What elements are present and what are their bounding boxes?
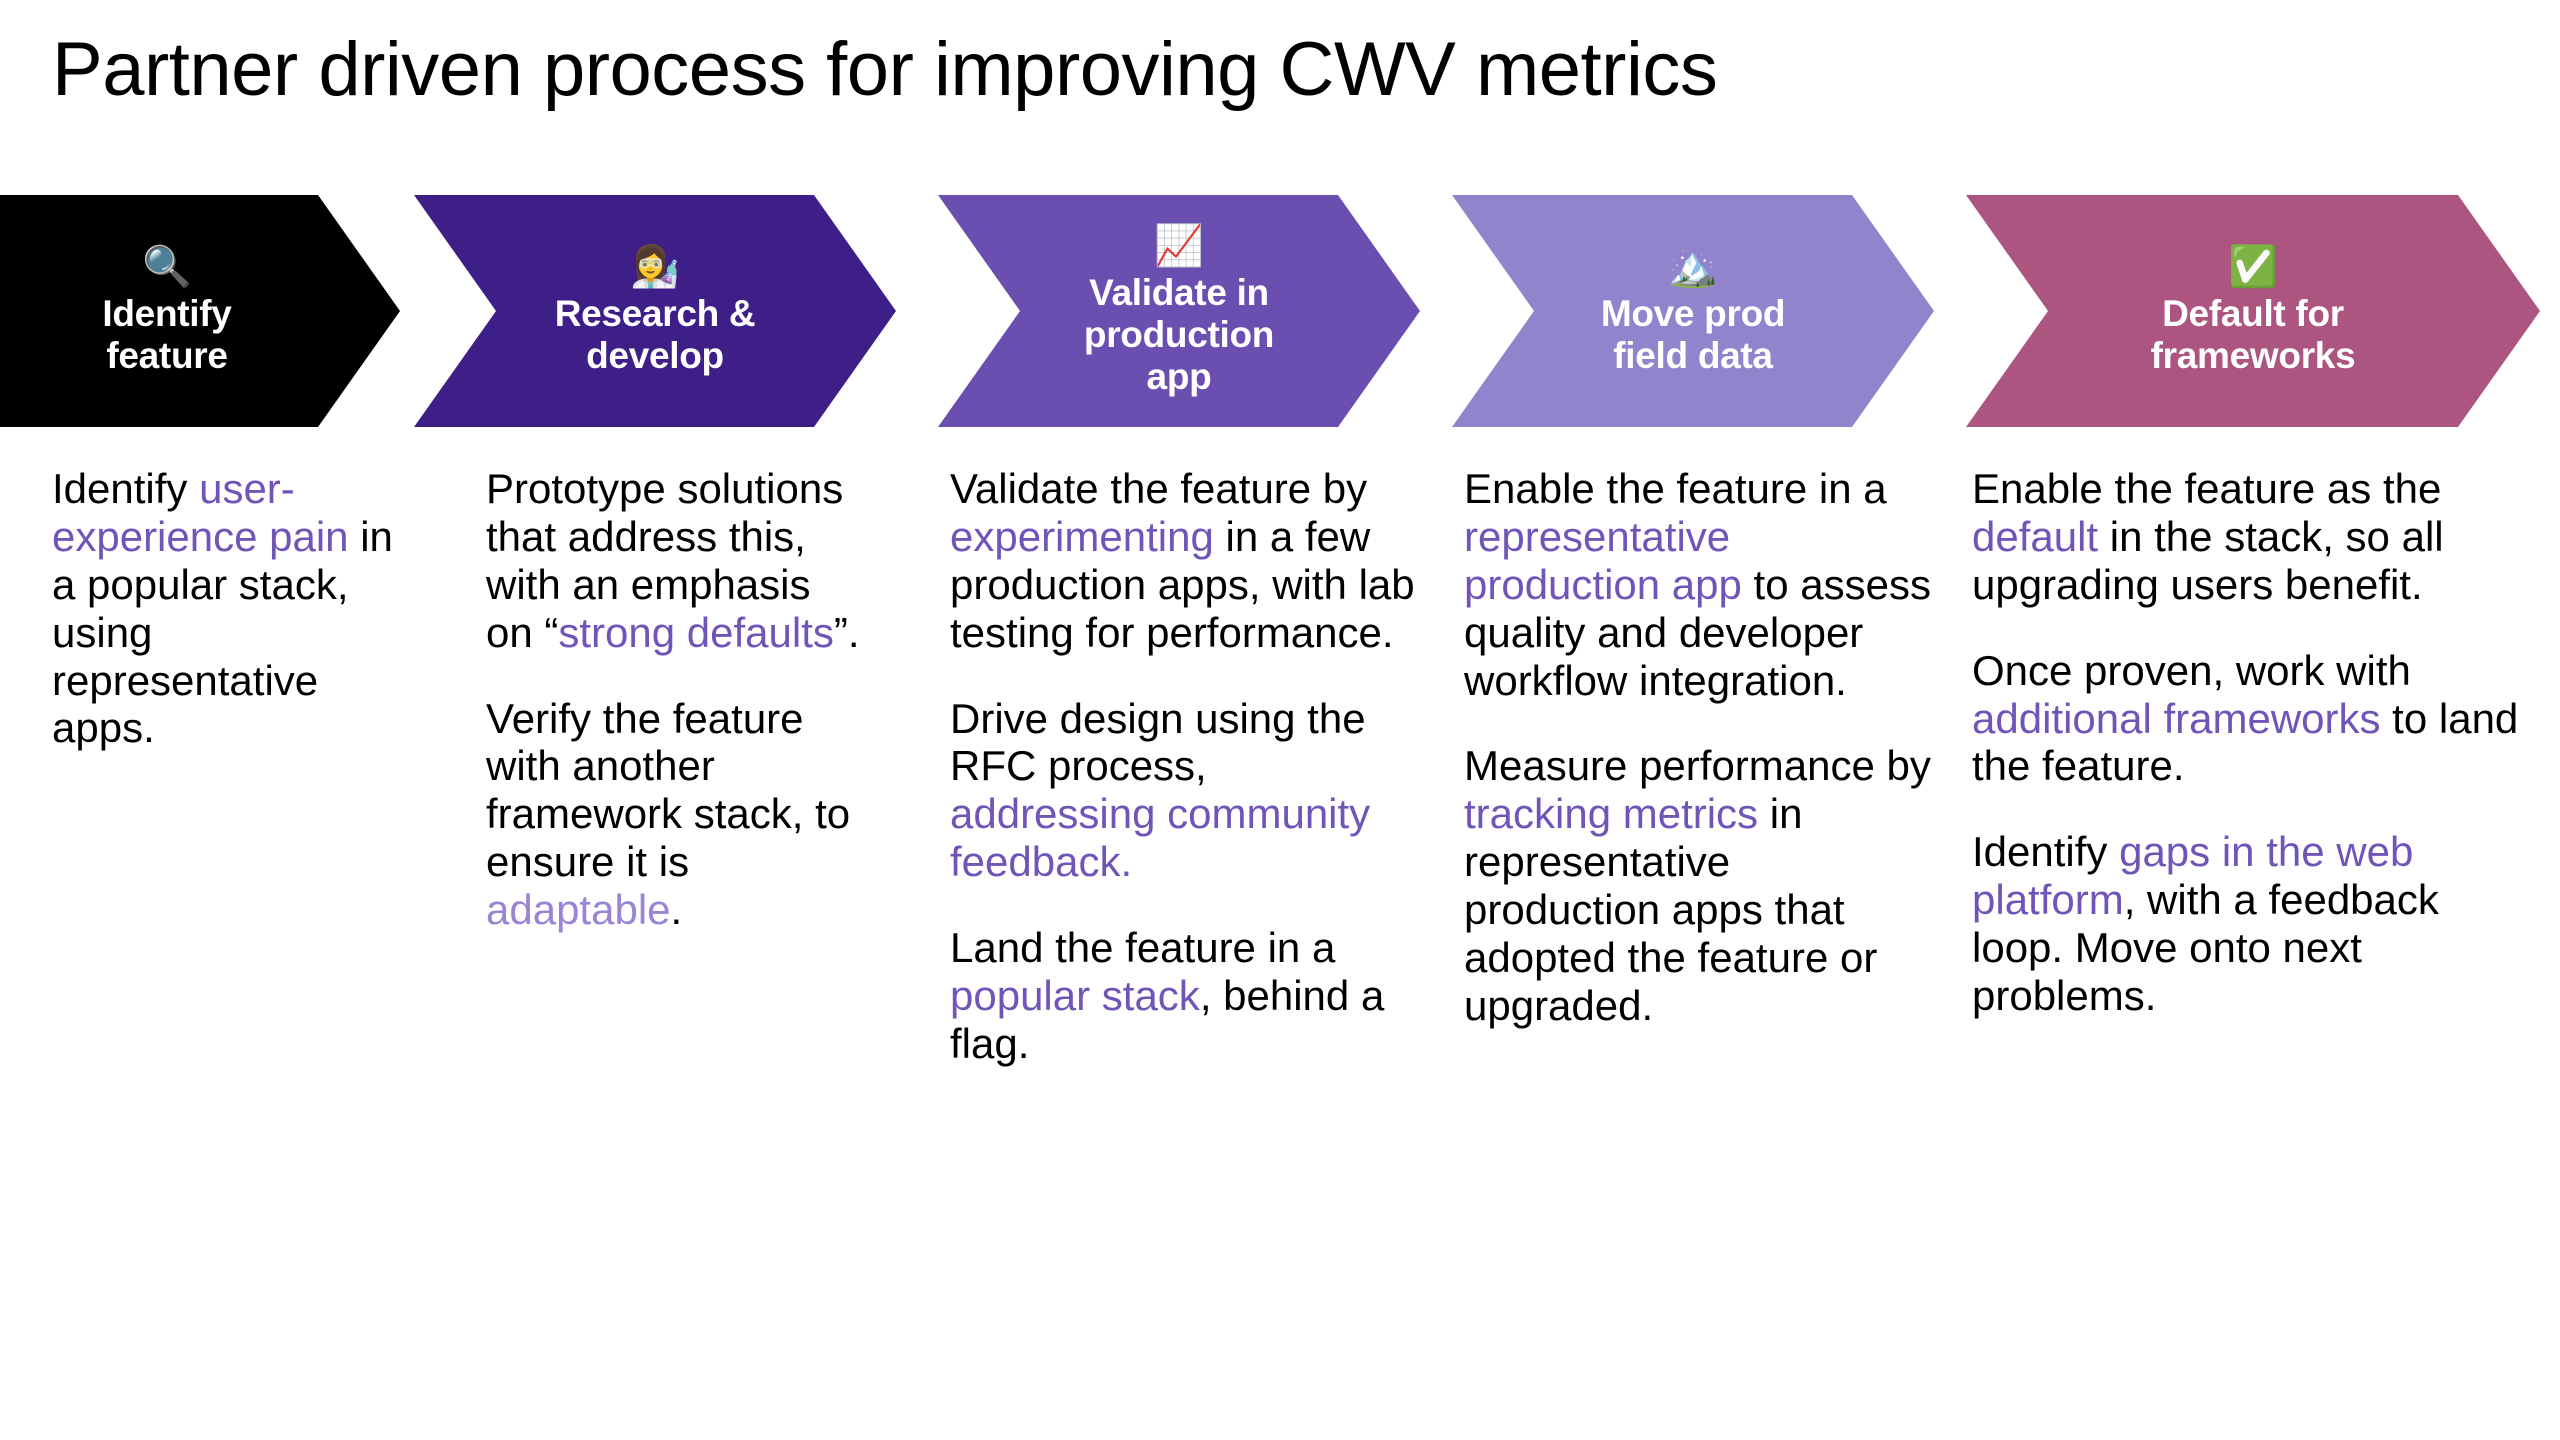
- check-mark-button-icon: ✅: [2228, 245, 2278, 289]
- text-run: ”.: [834, 609, 860, 656]
- description-paragraph: Verify the feature with another framewor…: [486, 695, 866, 934]
- description-paragraph: Land the feature in a popular stack, beh…: [950, 924, 1420, 1068]
- text-run: Enable the feature in a: [1464, 465, 1887, 512]
- move-prod-field-data-description: Enable the feature in a representative p…: [1464, 465, 1934, 1030]
- description-paragraph: Measure performance by tracking metrics …: [1464, 742, 1934, 1029]
- process-step-move-prod-field-data[interactable]: 🏔️ Move prod field data: [1452, 195, 1934, 427]
- validate-in-production-app-description: Validate the feature by experimenting in…: [950, 465, 1420, 1068]
- process-step-identify-feature[interactable]: 🔍 Identify feature: [0, 195, 400, 427]
- process-step-research-develop[interactable]: 👩‍🔬 Research & develop: [414, 195, 896, 427]
- page-title: Partner driven process for improving CWV…: [52, 28, 1717, 112]
- process-step-label: Validate in production app: [1084, 272, 1274, 397]
- identify-feature-description: Identify user-experience pain in a popul…: [52, 465, 424, 752]
- text-run: .: [671, 886, 683, 933]
- process-step-label: Identify feature: [102, 293, 231, 377]
- process-step-label: Research & develop: [555, 293, 756, 377]
- default-for-frameworks-description: Enable the feature as the default in the…: [1972, 465, 2532, 1020]
- magnifying-glass-icon: 🔍: [142, 245, 192, 289]
- scientist-icon: 👩‍🔬: [630, 245, 680, 289]
- text-run: Land the feature in a: [950, 924, 1335, 971]
- highlighted-text-run: default: [1972, 513, 2098, 560]
- description-paragraph: Prototype solutions that address this, w…: [486, 465, 866, 657]
- description-paragraph: Enable the feature in a representative p…: [1464, 465, 1934, 704]
- description-paragraph: Drive design using the RFC process, addr…: [950, 695, 1420, 887]
- highlighted-text-run: strong defaults: [558, 609, 834, 656]
- process-step-label: Default for frameworks: [2151, 293, 2356, 377]
- text-run: Measure performance by: [1464, 742, 1931, 789]
- process-step-validate-in-production-app[interactable]: 📈 Validate in production app: [938, 195, 1420, 427]
- text-run: Enable the feature as the: [1972, 465, 2441, 512]
- highlighted-text-run: representative production app: [1464, 513, 1742, 608]
- description-paragraph: Validate the feature by experimenting in…: [950, 465, 1420, 657]
- highlighted-text-run: experimenting: [950, 513, 1214, 560]
- snow-capped-mountain-icon: 🏔️: [1668, 245, 1718, 289]
- highlighted-text-run: tracking metrics: [1464, 790, 1758, 837]
- highlighted-text-run: addressing community feedback.: [950, 790, 1370, 885]
- chart-increasing-icon: 📈: [1154, 224, 1204, 268]
- highlighted-text-run: additional frameworks: [1972, 695, 2381, 742]
- text-run: Drive design using the RFC process,: [950, 695, 1366, 790]
- description-paragraph: Identify user-experience pain in a popul…: [52, 465, 424, 752]
- process-chevron-band: 🔍 Identify feature 👩‍🔬 Research & develo…: [0, 195, 2560, 427]
- highlighted-text-run: adaptable: [486, 886, 671, 933]
- description-paragraph: Once proven, work with additional framew…: [1972, 647, 2532, 791]
- text-run: Identify: [1972, 828, 2119, 875]
- process-step-default-for-frameworks[interactable]: ✅ Default for frameworks: [1966, 195, 2540, 427]
- text-run: Identify: [52, 465, 199, 512]
- highlighted-text-run: popular stack: [950, 972, 1200, 1019]
- text-run: Verify the feature with another framewor…: [486, 695, 850, 886]
- text-run: Validate the feature by: [950, 465, 1367, 512]
- description-paragraph: Enable the feature as the default in the…: [1972, 465, 2532, 609]
- text-run: Once proven, work with: [1972, 647, 2411, 694]
- research-develop-description: Prototype solutions that address this, w…: [486, 465, 866, 934]
- process-step-label: Move prod field data: [1601, 293, 1785, 377]
- description-paragraph: Identify gaps in the web platform, with …: [1972, 828, 2532, 1020]
